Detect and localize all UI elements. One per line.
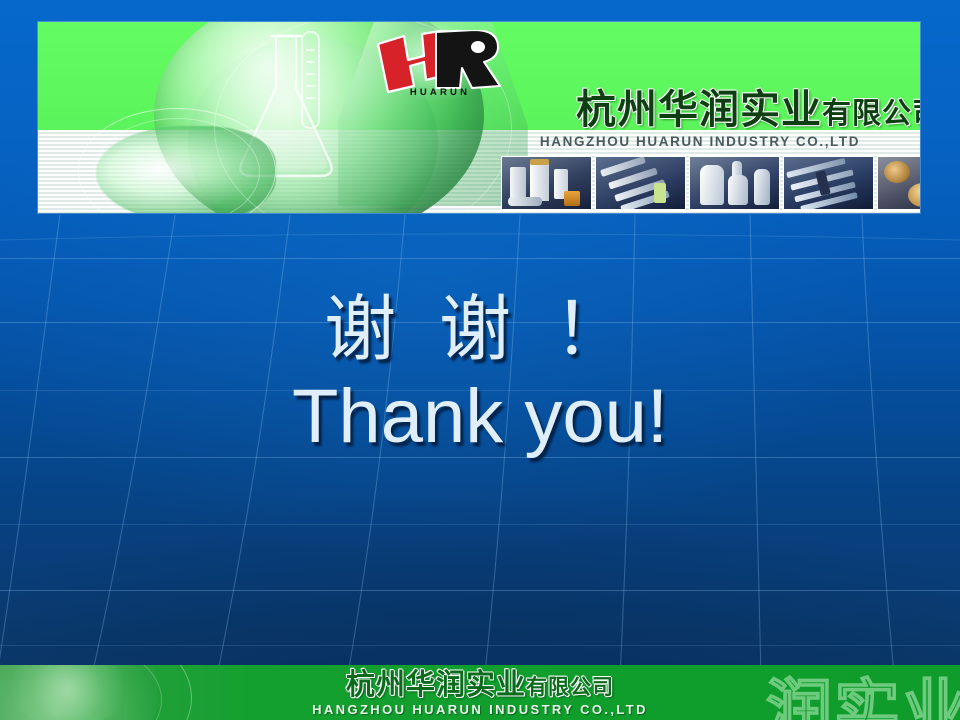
footer-company-name-en: HANGZHOU HUARUN INDUSTRY CO.,LTD [0, 702, 960, 717]
product-thumbnail [783, 156, 874, 210]
slide-canvas: HUARUN 杭州华润实业有限公司 HANGZHOU HUARUN INDUST… [0, 0, 960, 720]
thank-you-title-block: 谢 谢 ！ Thank you! [0, 286, 960, 460]
footer-company-name-cn: 杭州华润实业有限公司 [0, 668, 960, 703]
logo-letter-r [436, 30, 500, 88]
huarun-logo: HUARUN [374, 30, 504, 96]
footer-company-name-cn-suffix: 有限公司 [526, 675, 614, 699]
product-thumbnail [877, 156, 920, 210]
product-photo-strip [499, 154, 920, 213]
banner-company-name-cn-suffix: 有限公司 [822, 96, 920, 130]
product-thumbnail [501, 156, 592, 210]
title-english: Thank you! [0, 374, 960, 460]
product-thumbnail [595, 156, 686, 210]
footer-company-name-cn-main: 杭州华润实业 [346, 667, 526, 701]
product-thumbnail [689, 156, 780, 210]
banner-company-name-en: HANGZHOU HUARUN INDUSTRY CO.,LTD [458, 134, 920, 149]
footer-band: 润实业 杭州华润实业有限公司 HANGZHOU HUARUN INDUSTRY … [0, 665, 960, 720]
banner-company-name-cn-main: 杭州华润实业 [576, 87, 822, 133]
header-banner: HUARUN 杭州华润实业有限公司 HANGZHOU HUARUN INDUST… [38, 22, 920, 213]
banner-company-name-cn: 杭州华润实业有限公司 [442, 88, 920, 135]
title-chinese: 谢 谢 ！ [0, 286, 960, 372]
